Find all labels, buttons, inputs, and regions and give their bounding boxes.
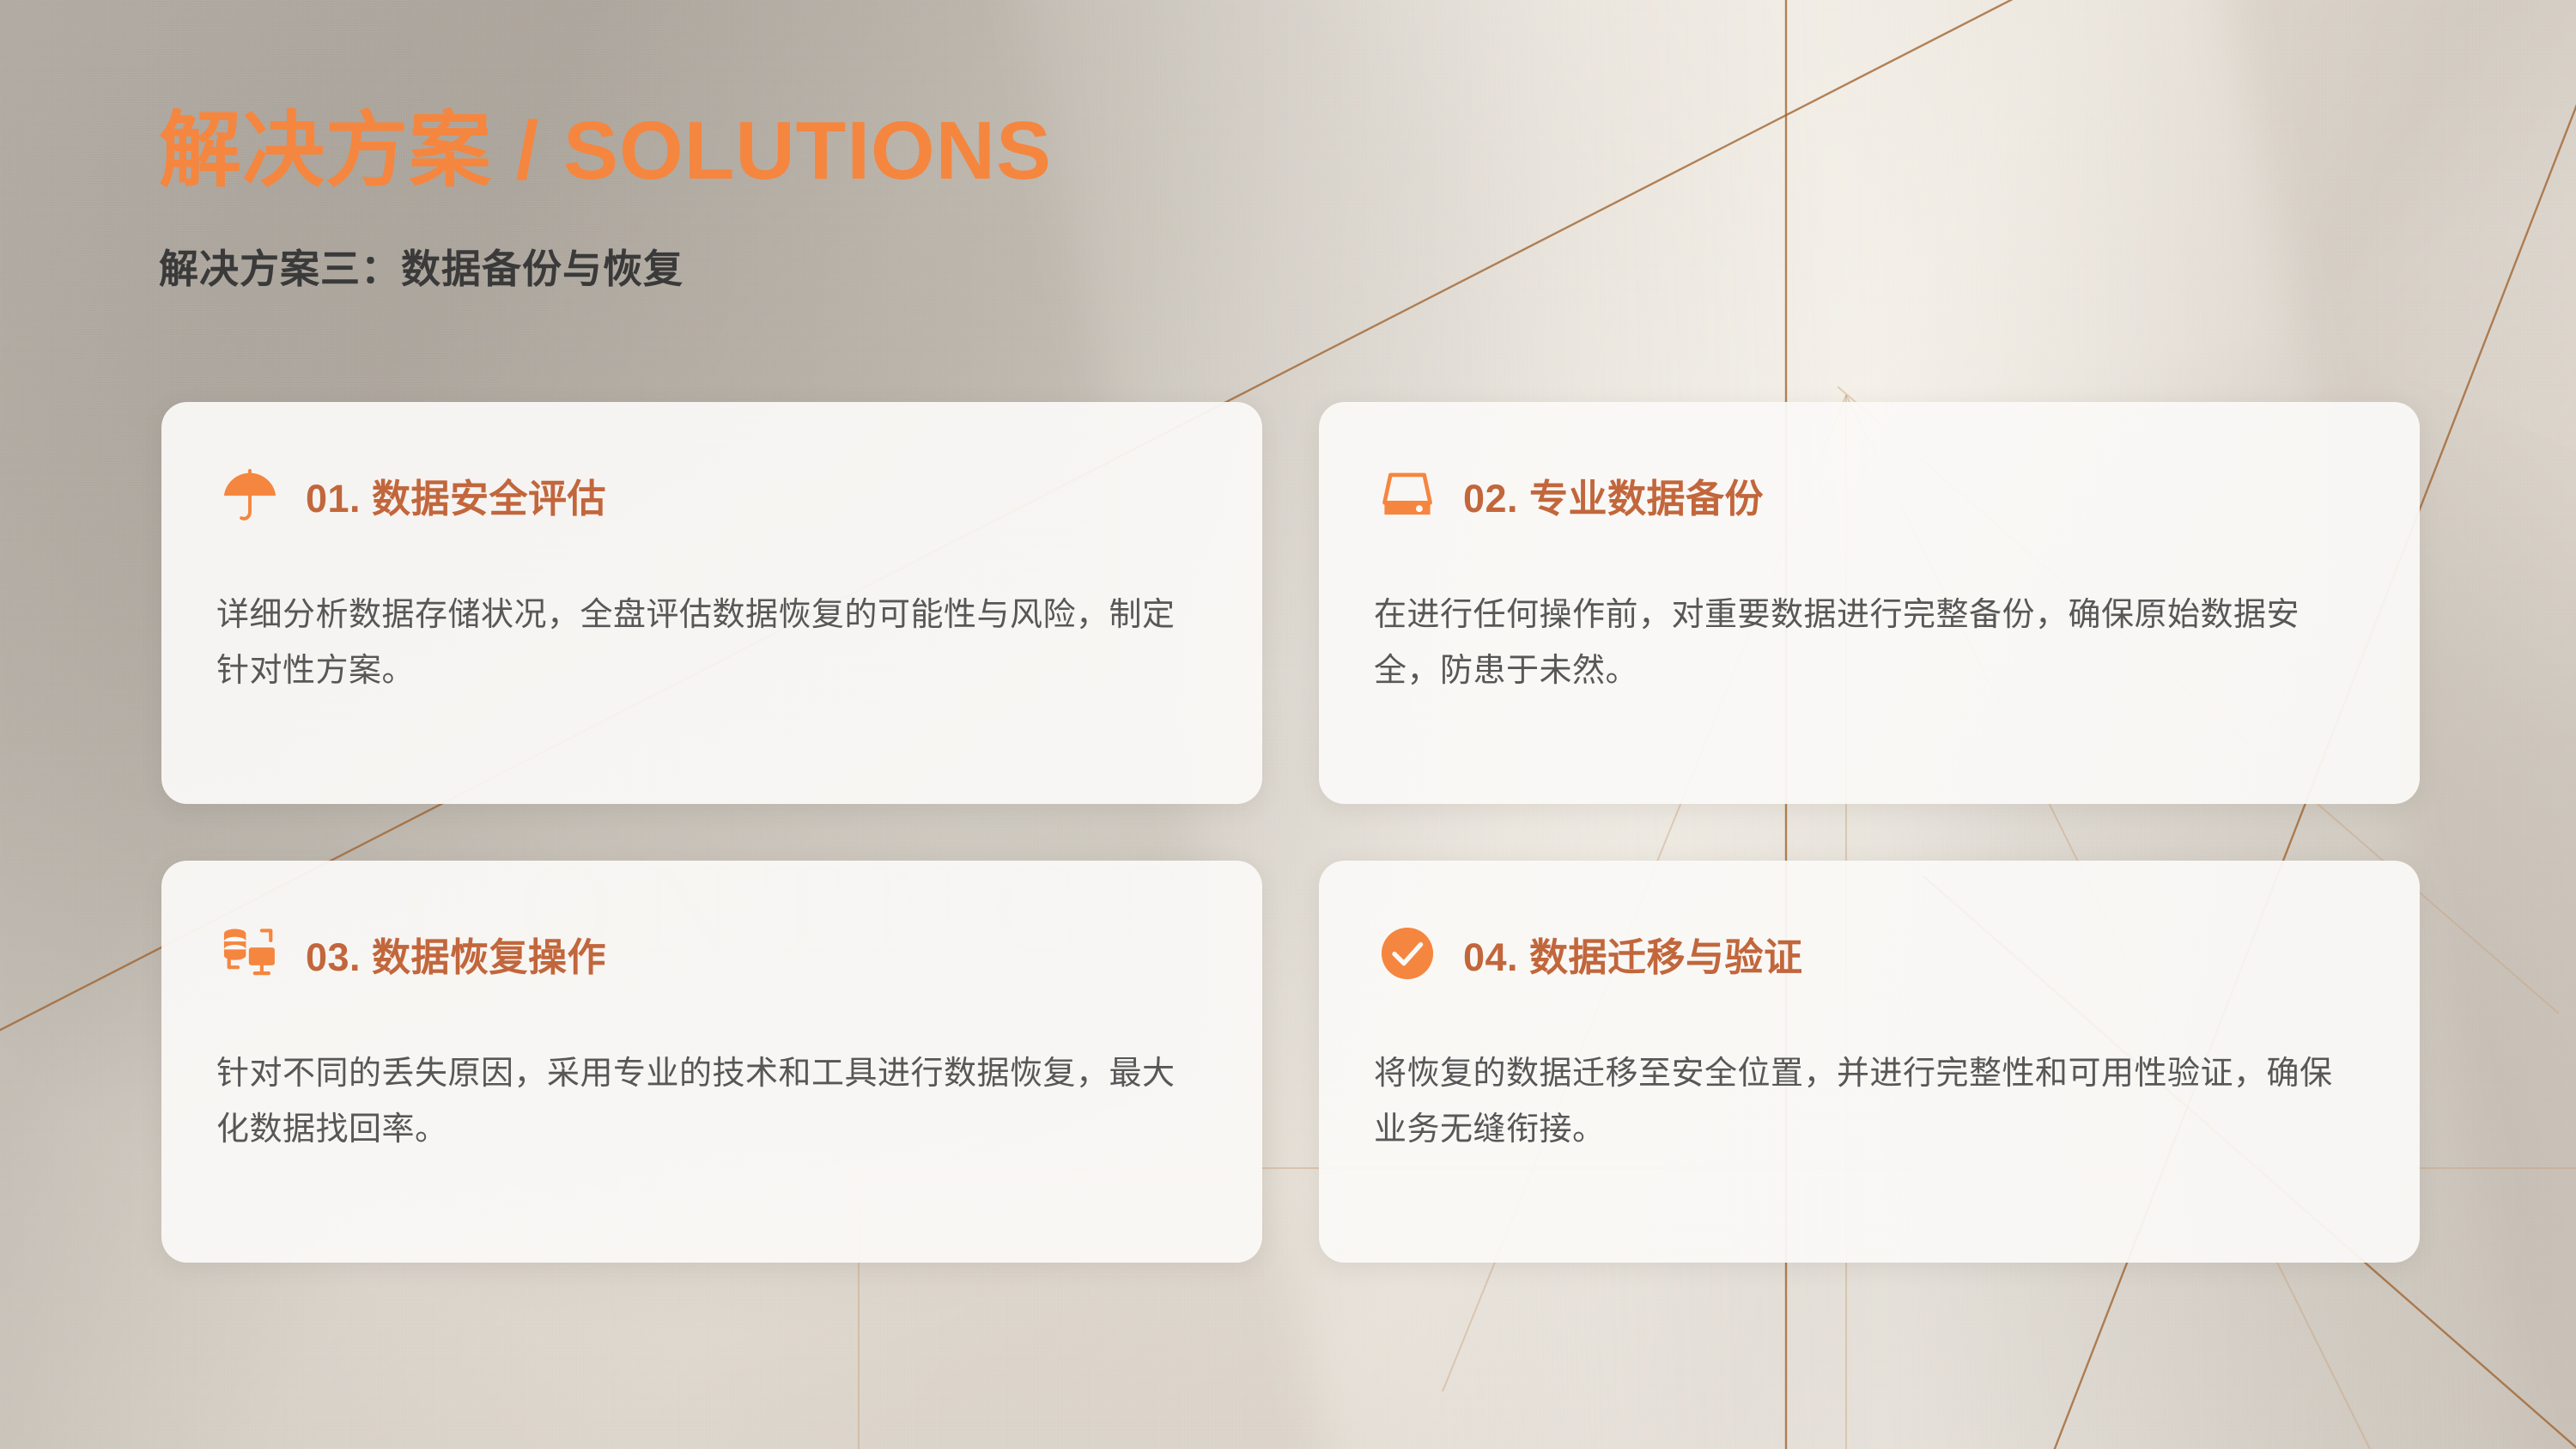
card-title-03: 03. 数据恢复操作 [306, 926, 606, 982]
card-body-01: 详细分析数据存储状况，全盘评估数据恢复的可能性与风险，制定针对性方案。 [216, 588, 1187, 700]
database-transfer-icon [216, 920, 283, 987]
hard-drive-icon [1374, 461, 1441, 528]
solution-card-02[interactable]: 02. 专业数据备份 在进行任何操作前，对重要数据进行完整备份，确保原始数据安全… [1319, 402, 2420, 804]
check-circle-icon [1374, 920, 1441, 987]
page-subtitle: 解决方案三：数据备份与恢复 [159, 238, 1533, 295]
umbrella-icon [216, 461, 283, 528]
card-header-02: 02. 专业数据备份 [1374, 455, 2365, 534]
card-body-04: 将恢复的数据迁移至安全位置，并进行完整性和可用性验证，确保业务无缝衔接。 [1374, 1046, 2344, 1159]
card-body-02: 在进行任何操作前，对重要数据进行完整备份，确保原始数据安全，防患于未然。 [1374, 588, 2344, 700]
card-header-03: 03. 数据恢复操作 [216, 914, 1207, 993]
slide-root: CONTNCE 解决方案 / SOLUTIONS 解决方案三：数据备份与恢复 0… [0, 0, 2576, 1449]
solution-card-03[interactable]: 03. 数据恢复操作 针对不同的丢失原因，采用专业的技术和工具进行数据恢复，最大… [161, 861, 1262, 1263]
solution-card-01[interactable]: 01. 数据安全评估 详细分析数据存储状况，全盘评估数据恢复的可能性与风险，制定… [161, 402, 1262, 804]
page-title: 解决方案 / SOLUTIONS [159, 103, 1533, 198]
card-header-04: 04. 数据迁移与验证 [1374, 914, 2365, 993]
solution-card-04[interactable]: 04. 数据迁移与验证 将恢复的数据迁移至安全位置，并进行完整性和可用性验证，确… [1319, 861, 2420, 1263]
card-title-04: 04. 数据迁移与验证 [1463, 926, 1803, 982]
card-header-01: 01. 数据安全评估 [216, 455, 1207, 534]
card-title-02: 02. 专业数据备份 [1463, 467, 1764, 523]
card-title-01: 01. 数据安全评估 [306, 467, 606, 523]
page-header: 解决方案 / SOLUTIONS 解决方案三：数据备份与恢复 [159, 103, 1533, 295]
solution-card-grid: 01. 数据安全评估 详细分析数据存储状况，全盘评估数据恢复的可能性与风险，制定… [161, 402, 2420, 1263]
card-body-03: 针对不同的丢失原因，采用专业的技术和工具进行数据恢复，最大化数据找回率。 [216, 1046, 1187, 1159]
